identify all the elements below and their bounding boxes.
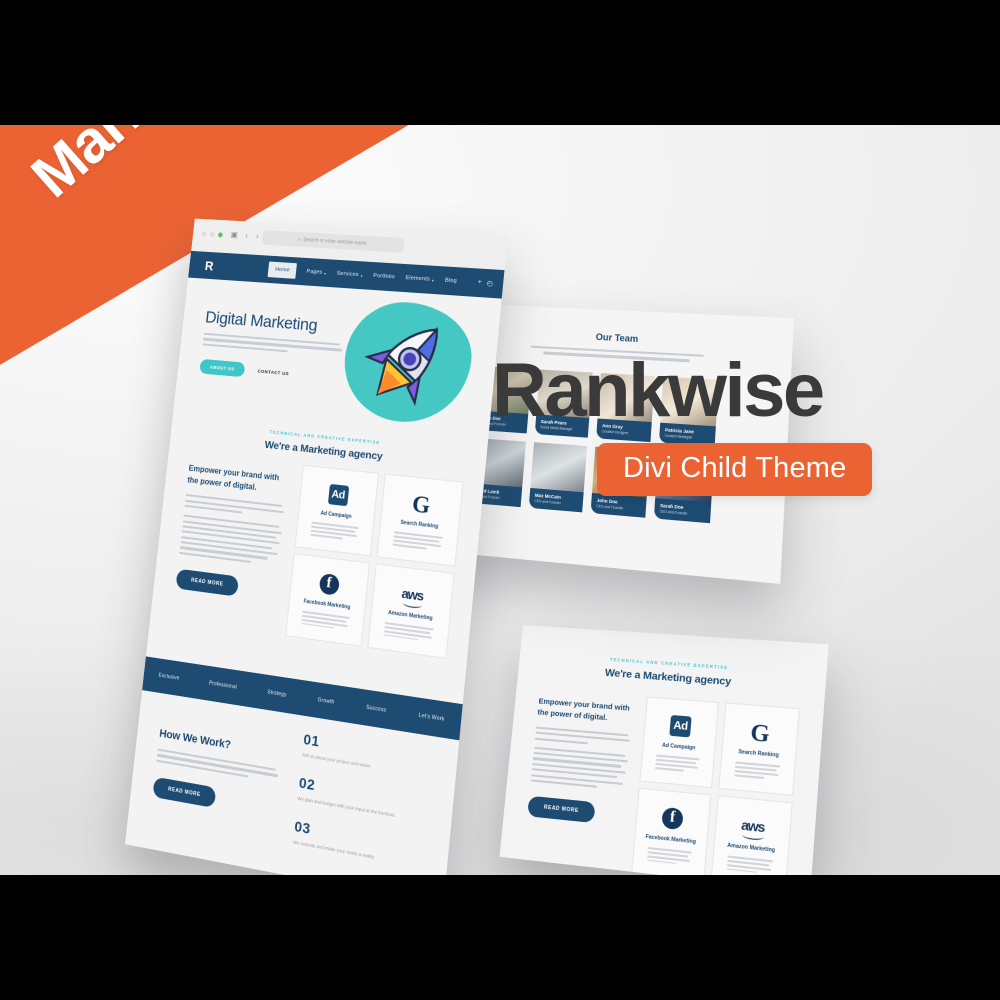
- services-mockup-panel: TECHNICAL AND CREATIVE EXPERTISE We're a…: [499, 625, 828, 875]
- services-left-title: Empower your brand with the power of dig…: [187, 463, 289, 497]
- facebook-icon: f: [318, 573, 339, 596]
- service-card-search-ranking-2[interactable]: G Search Ranking: [718, 702, 800, 795]
- chevron-left-icon[interactable]: ‹: [245, 231, 248, 240]
- letterbox-top: [0, 0, 1000, 125]
- services-card-grid: Ad Ad Campaign G Search Ranking: [285, 465, 463, 659]
- letterbox-bottom: [0, 875, 1000, 1000]
- service-card-body: [310, 522, 359, 544]
- services-read-more-button[interactable]: READ MORE: [175, 569, 239, 597]
- service-card-title: Facebook Marketing: [645, 834, 696, 846]
- service-card-title: Amazon Marketing: [388, 610, 433, 622]
- homepage-mockup-panel: ▣ ‹ › ⌕ Search or enter website name R H…: [125, 219, 508, 875]
- google-search-icon: G: [750, 720, 771, 746]
- nav-tools: + ◴: [477, 279, 493, 288]
- nav-item-pages[interactable]: Pages▾: [306, 269, 326, 276]
- hero-copy: Digital Marketing ABOUT US CONTACT US: [199, 308, 345, 386]
- search-icon: ⌕: [298, 236, 301, 242]
- presentation-canvas: Marketing Rankwise Divi Child Theme ▣ ‹ …: [0, 125, 1000, 875]
- window-controls[interactable]: [202, 231, 223, 237]
- service-card-title: Amazon Marketing: [727, 842, 775, 854]
- step-item: 01 Tell us about your project and vision…: [302, 730, 434, 778]
- google-search-icon: G: [411, 491, 431, 517]
- how-we-work-steps: 01 Tell us about your project and vision…: [293, 730, 434, 868]
- service-card-amazon-marketing[interactable]: aws Amazon Marketing: [367, 563, 454, 659]
- services-left-body-2: [179, 515, 283, 567]
- chevron-right-icon[interactable]: ›: [256, 232, 259, 241]
- services-card-grid-2: Ad Ad Campaign G Search Ranking: [631, 696, 800, 875]
- service-card-ad-campaign-2[interactable]: Ad Ad Campaign: [639, 696, 719, 788]
- service-card-title: Ad Campaign: [662, 742, 696, 751]
- service-card-body: [647, 847, 692, 869]
- team-member-card[interactable]: Max McCainCEO and Founder: [529, 442, 587, 512]
- feature-strip-item[interactable]: Let's Work: [418, 713, 444, 723]
- feature-strip-item[interactable]: Strategy: [267, 689, 287, 698]
- services-left-body-2b: [531, 746, 630, 790]
- hero-body: [202, 333, 342, 357]
- nav-item-services[interactable]: Services▾: [336, 271, 363, 279]
- how-we-work-copy: How We Work? READ MORE: [152, 728, 281, 819]
- service-card-facebook-marketing[interactable]: f Facebook Marketing: [285, 553, 370, 647]
- address-bar-placeholder: Search or enter website name: [303, 237, 367, 246]
- chevron-down-icon: ▾: [432, 277, 435, 282]
- screenshot-stage: Marketing Rankwise Divi Child Theme ▣ ‹ …: [0, 0, 1000, 1000]
- feature-strip-item[interactable]: Exclusive: [158, 673, 179, 682]
- service-card-ad-campaign[interactable]: Ad Ad Campaign: [294, 465, 379, 557]
- feature-strip-item[interactable]: Success: [366, 704, 387, 713]
- nav-item-elements[interactable]: Elements▾: [405, 275, 434, 283]
- how-we-work-read-more-button[interactable]: READ MORE: [152, 777, 216, 808]
- service-card-search-ranking[interactable]: G Search Ranking: [376, 473, 463, 566]
- plus-icon[interactable]: +: [477, 279, 482, 287]
- aws-icon: aws: [741, 817, 765, 835]
- facebook-icon: f: [661, 807, 684, 830]
- service-card-title: Search Ranking: [738, 749, 779, 759]
- service-card-facebook-marketing-2[interactable]: f Facebook Marketing: [631, 788, 711, 875]
- services-left-copy-2: Empower your brand with the power of dig…: [527, 696, 634, 826]
- step-item: 02 We plan and budget with your input at…: [297, 774, 429, 824]
- service-card-amazon-marketing-2[interactable]: aws Amazon Marketing: [710, 795, 792, 875]
- browser-address-bar[interactable]: ⌕ Search or enter website name: [262, 230, 405, 253]
- logo-rankwise[interactable]: R: [201, 257, 217, 273]
- service-card-body: [301, 611, 350, 634]
- ad-campaign-icon: Ad: [327, 484, 348, 506]
- aws-icon: aws: [401, 586, 424, 604]
- service-card-body: [655, 755, 699, 776]
- service-card-title: Search Ranking: [400, 520, 438, 531]
- service-card-title: Ad Campaign: [320, 510, 352, 520]
- nav-item-home[interactable]: Home: [268, 262, 297, 279]
- services-left-body-1b: [535, 726, 632, 747]
- service-card-body: [727, 855, 773, 875]
- hero-title: Digital Marketing: [204, 308, 345, 338]
- services-read-more-button-2[interactable]: READ MORE: [527, 796, 595, 823]
- clock-icon[interactable]: ◴: [486, 279, 493, 288]
- feature-strip-item[interactable]: Growth: [317, 697, 334, 706]
- service-card-body: [383, 622, 433, 645]
- hero-contact-link[interactable]: CONTACT US: [257, 369, 289, 377]
- brand-badge: Divi Child Theme: [597, 443, 872, 496]
- services-left-title-2: Empower your brand with the power of dig…: [537, 696, 634, 726]
- service-card-body: [392, 531, 442, 553]
- rocket-illustration: [339, 298, 477, 427]
- feature-strip: Exclusive Professional Strategy Growth S…: [142, 656, 463, 740]
- services-heading-block-2: TECHNICAL AND CREATIVE EXPERTISE We're a…: [518, 651, 826, 695]
- hero-about-button[interactable]: ABOUT US: [199, 359, 245, 377]
- services-left-body-1: [184, 494, 285, 518]
- feature-strip-item[interactable]: Professional: [209, 680, 237, 690]
- service-card-body: [734, 762, 780, 783]
- service-card-title: Facebook Marketing: [303, 598, 350, 610]
- nav-item-portfolio[interactable]: Portfolio: [373, 273, 395, 280]
- brand-title: Rankwise: [492, 347, 823, 434]
- chevron-down-icon: ▾: [324, 270, 327, 275]
- chevron-down-icon: ▾: [360, 273, 363, 278]
- sidebar-icon[interactable]: ▣: [230, 230, 238, 239]
- services-left-copy: Empower your brand with the power of dig…: [175, 463, 288, 602]
- ad-campaign-icon: Ad: [669, 715, 691, 737]
- step-item: 03 We execute and make your vision a rea…: [293, 817, 425, 868]
- nav-item-blog[interactable]: Blog: [445, 278, 458, 285]
